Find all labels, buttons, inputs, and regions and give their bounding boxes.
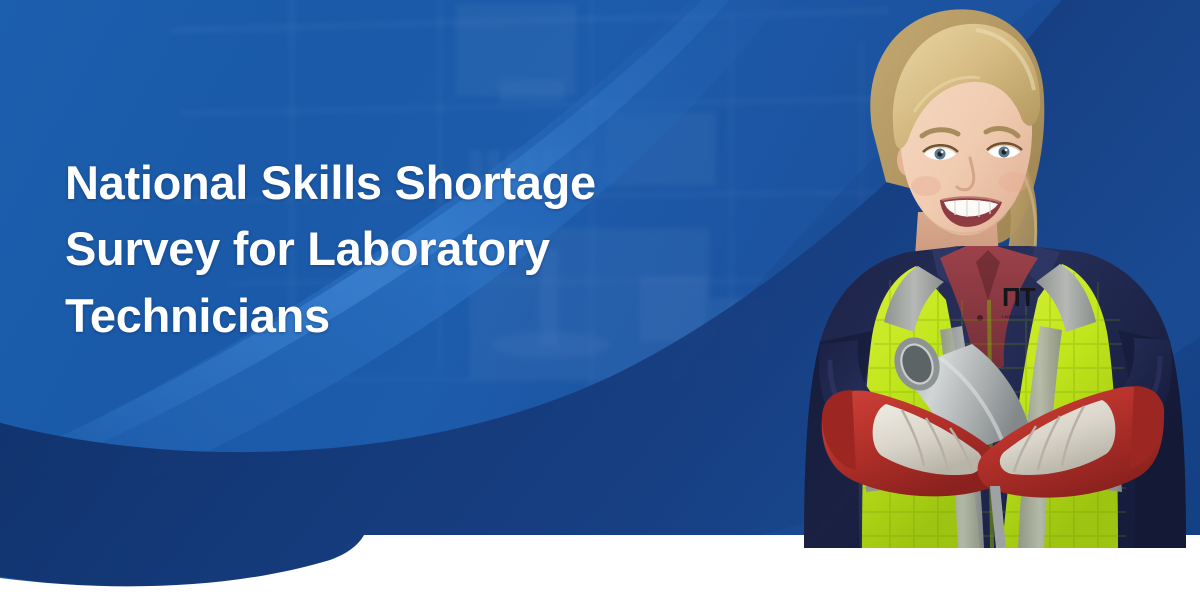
- hero-banner: National Skills Shortage Survey for Labo…: [0, 0, 1200, 600]
- svg-text:ΠΤ: ΠΤ: [1002, 282, 1036, 312]
- technician-illustration: ΠΤ LABORATORY: [790, 0, 1200, 548]
- vest-logo: ΠΤ LABORATORY: [1002, 282, 1036, 319]
- page-title: National Skills Shortage Survey for Labo…: [65, 150, 725, 349]
- technician-photo: ΠΤ LABORATORY: [790, 0, 1200, 548]
- vest-logo-subtext: LABORATORY: [1002, 314, 1031, 319]
